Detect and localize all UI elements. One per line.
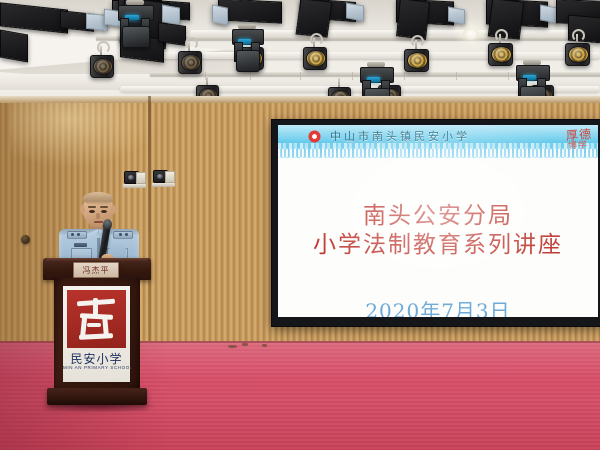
speaker-epaulet-right [113,231,133,239]
speaker-nose [96,213,100,219]
floor-debris [242,343,248,346]
speaker-ear-right [111,205,116,214]
truss-tick [352,72,353,80]
slide-title-line-2: 小学法制教育系列讲座 [278,231,598,260]
ceiling-beam-2 [150,52,600,59]
school-emblem-icon [67,290,126,348]
ptz-camera [123,168,146,188]
wall-highlight [10,98,160,168]
speaker-hair [83,192,113,205]
ptz-camera [152,167,175,187]
moving-head-light-icon [232,24,262,74]
par-light-icon [404,40,427,70]
par-light-icon [488,34,511,64]
slide-banner: 中山市南头镇民安小学 厚德 博学 [278,125,598,158]
wall-ceiling-trim [0,96,600,103]
par-light-icon [565,34,588,64]
slide-title: 南头公安分局 小学法制教育系列讲座 [278,202,598,261]
truss-tick [404,72,405,80]
truss-tick [300,72,301,80]
speaker-eye-right [101,210,107,213]
speaker-brow-left [88,206,96,208]
sun-logo-icon [306,128,323,145]
banner-skyline-graphic-2 [278,149,598,157]
acoustic-panel-light [212,4,228,25]
slide-date: 2020年7月3日 [278,295,598,317]
speaker-eye-left [89,210,95,213]
speaker-brow-right [100,206,108,208]
banner-school-name: 中山市南头镇民安小学 [330,128,470,144]
acoustic-panel [396,0,430,40]
truss-tick [508,72,509,80]
slide-body: 南头公安分局 小学法制教育系列讲座 2020年7月3日 [278,158,598,317]
speaker-name-badge [74,243,87,247]
auditorium-photo: 中山市南头镇民安小学 厚德 博学 南头公安分局 小学法制教育系列讲座 2020年… [0,0,600,450]
acoustic-panel-light [448,6,465,24]
banner-calligraphy-right-2: 博学 [568,137,589,151]
speaker-epaulet-left [67,231,87,239]
floor-debris [228,345,237,348]
acoustic-panel [295,0,332,38]
floor-debris [262,344,267,347]
school-name-english: MIN AN PRIMARY SCHOOL [63,365,130,370]
speaker-nameplate: 冯杰平 [73,262,119,278]
speaker-ear-left [80,205,85,214]
acoustic-panel [0,30,28,63]
par-light-icon [303,38,325,68]
podium: 冯杰平 民安小学 MIN AN PRIMARY SCHOOL [43,258,151,418]
projection-screen[interactable]: 中山市南头镇民安小学 厚德 博学 南头公安分局 小学法制教育系列讲座 2020年… [278,125,598,317]
wall-fixture-knob [21,235,30,244]
par-light-icon [178,42,200,72]
par-light-icon [90,46,112,76]
downlight-icon [463,28,479,40]
acoustic-panel-light [346,2,364,21]
podium-base [47,388,147,405]
projection-screen-frame: 中山市南头镇民安小学 厚德 博学 南头公安分局 小学法制教育系列讲座 2020年… [271,119,600,327]
moving-head-light-icon [118,0,152,50]
slide-title-line-1: 南头公安分局 [278,202,598,231]
emblem-calligraphy-mark [67,290,126,348]
speaker-nameplate-text: 冯杰平 [74,265,118,276]
truss-tick [456,72,457,80]
school-emblem-panel: 民安小学 MIN AN PRIMARY SCHOOL [63,286,130,382]
